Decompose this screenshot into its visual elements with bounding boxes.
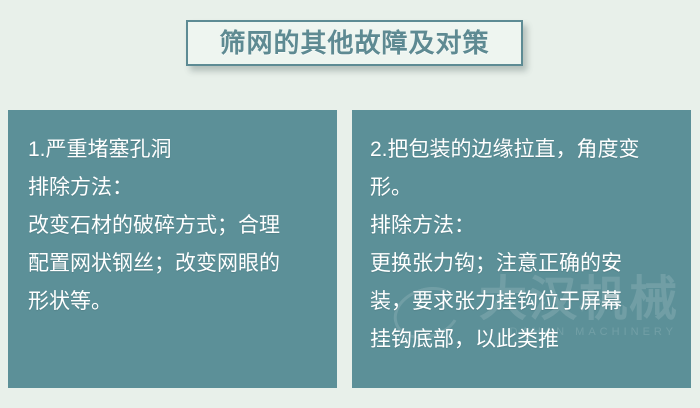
title-banner: 筛网的其他故障及对策 [186, 20, 523, 66]
content-panels: 1.严重堵塞孔洞 排除方法： 改变石材的破碎方式；合理 配置网状钢丝；改变网眼的… [8, 110, 691, 388]
page-title: 筛网的其他故障及对策 [219, 30, 489, 56]
panel-1-text: 1.严重堵塞孔洞 排除方法： 改变石材的破碎方式；合理 配置网状钢丝；改变网眼的… [28, 131, 329, 321]
slide-canvas: 筛网的其他故障及对策 1.严重堵塞孔洞 排除方法： 改变石材的破碎方式；合理 配… [0, 0, 700, 408]
title-box: 筛网的其他故障及对策 [186, 20, 523, 66]
panel-2-text: 2.把包装的边缘拉直，角度变 形。 排除方法： 更换张力钩；注意正确的安 装，要… [370, 131, 683, 359]
content-panel-1: 1.严重堵塞孔洞 排除方法： 改变石材的破碎方式；合理 配置网状钢丝；改变网眼的… [8, 110, 337, 388]
content-panel-2: 2.把包装的边缘拉直，角度变 形。 排除方法： 更换张力钩；注意正确的安 装，要… [352, 110, 691, 388]
